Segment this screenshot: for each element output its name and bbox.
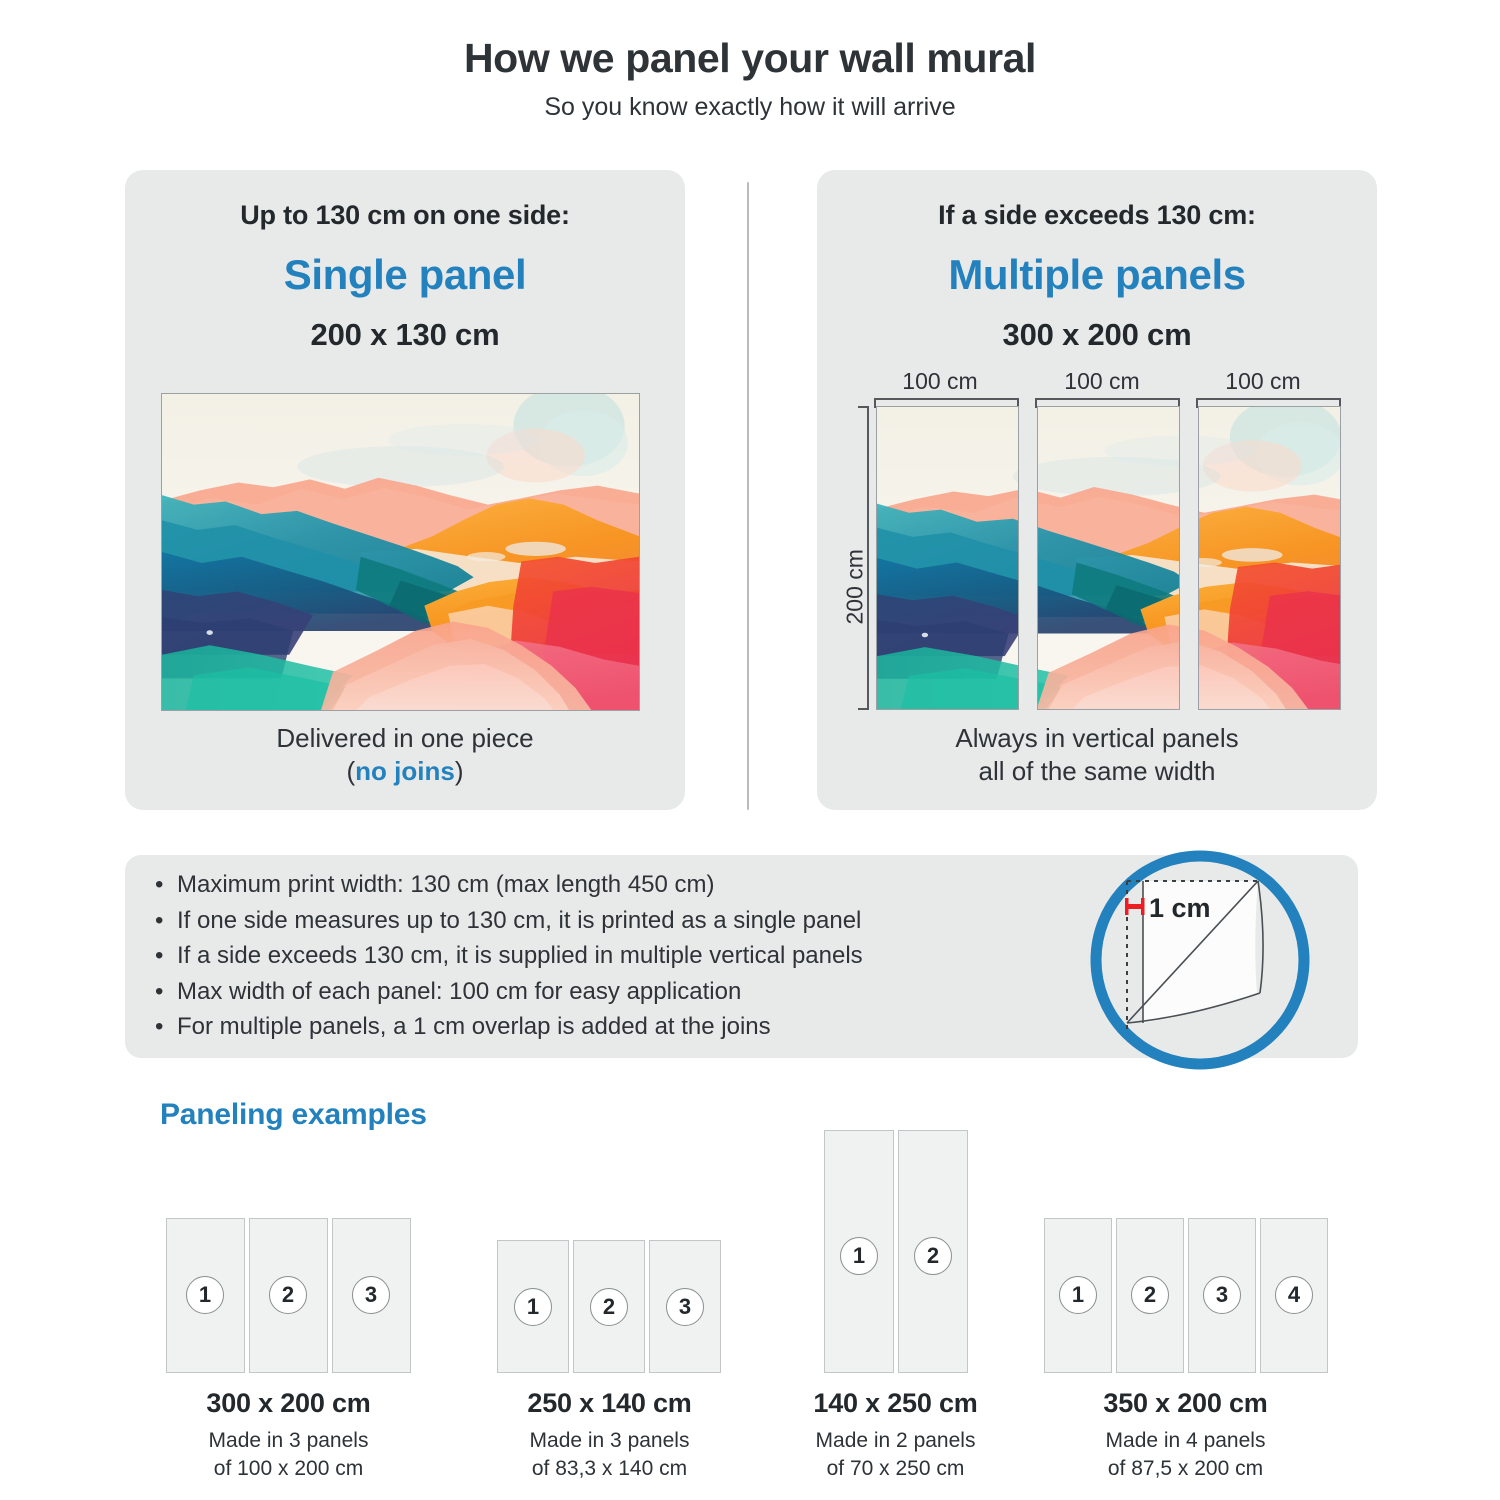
bullet-marker-icon: • — [155, 873, 177, 897]
mural-artwork-single — [161, 393, 640, 711]
paren-close: ) — [455, 756, 464, 786]
example-sub-line1: Made in 3 panels — [136, 1427, 441, 1455]
overlap-diagram: 1 cm — [1085, 845, 1315, 1075]
height-rule-tick-bottom — [858, 708, 869, 710]
example-dimensions: 250 x 140 cm — [457, 1388, 762, 1419]
example-sub-line2: of 83,3 x 140 cm — [457, 1455, 762, 1483]
panel-width-label-1: 100 cm — [875, 368, 1005, 395]
bullet-text: Max width of each panel: 100 cm for easy… — [177, 980, 741, 1004]
example-dimensions: 300 x 200 cm — [136, 1388, 441, 1419]
mural-panel-3 — [1198, 406, 1341, 710]
left-card-dimensions: 200 x 130 cm — [125, 317, 685, 353]
right-card-dimensions: 300 x 200 cm — [817, 317, 1377, 353]
page-title: How we panel your wall mural — [0, 36, 1500, 82]
right-card-kicker: If a side exceeds 130 cm: — [817, 200, 1377, 231]
left-card-footer-line1: Delivered in one piece — [276, 723, 533, 753]
page-header: How we panel your wall mural So you know… — [0, 36, 1500, 122]
list-item: • If a side exceeds 130 cm, it is suppli… — [155, 944, 1135, 968]
bullet-text: Maximum print width: 130 cm (max length … — [177, 873, 715, 897]
width-rule-2 — [1035, 398, 1180, 400]
list-item: • Max width of each panel: 100 cm for ea… — [155, 980, 1135, 1004]
left-card-heading: Single panel — [125, 253, 685, 297]
bullet-marker-icon: • — [155, 909, 177, 933]
width-rule-1 — [874, 398, 1019, 400]
height-rule-tick-top — [858, 406, 869, 408]
left-card-footer: Delivered in one piece (no joins) — [125, 722, 685, 789]
panel-number-badge: 1 — [840, 1237, 878, 1275]
bullet-text: If a side exceeds 130 cm, it is supplied… — [177, 944, 863, 968]
left-card-kicker: Up to 130 cm on one side: — [125, 200, 685, 231]
panel-number-badge: 2 — [914, 1237, 952, 1275]
panel-width-label-2: 100 cm — [1037, 368, 1167, 395]
example-dimensions: 350 x 200 cm — [1033, 1388, 1338, 1419]
page-subtitle: So you know exactly how it will arrive — [0, 92, 1500, 122]
no-joins-accent: no joins — [355, 756, 455, 786]
specifications-list: • Maximum print width: 130 cm (max lengt… — [155, 873, 1135, 1051]
panel-number-badge: 2 — [1131, 1276, 1169, 1314]
overlap-label: 1 cm — [1149, 893, 1211, 923]
panel-number-badge: 1 — [1059, 1276, 1097, 1314]
example-sub-line1: Made in 2 panels — [743, 1427, 1048, 1455]
overlap-marker-tick-right — [1141, 898, 1145, 915]
right-card-heading: Multiple panels — [817, 253, 1377, 297]
panel-number-badge: 1 — [186, 1276, 224, 1314]
paren-open: ( — [346, 756, 355, 786]
mural-panel-2 — [1037, 406, 1180, 710]
list-item: • If one side measures up to 130 cm, it … — [155, 909, 1135, 933]
section-divider — [747, 182, 749, 810]
bullet-marker-icon: • — [155, 944, 177, 968]
mural-panel-1 — [876, 406, 1019, 710]
example-sub-line2: of 100 x 200 cm — [136, 1455, 441, 1483]
bullet-text: If one side measures up to 130 cm, it is… — [177, 909, 861, 933]
panel-number-badge: 1 — [514, 1288, 552, 1326]
panel-width-label-3: 100 cm — [1198, 368, 1328, 395]
panel-number-badge: 3 — [1203, 1276, 1241, 1314]
right-card-footer-line2: all of the same width — [978, 756, 1215, 786]
overlap-marker-tick-left — [1125, 898, 1129, 915]
bullet-text: For multiple panels, a 1 cm overlap is a… — [177, 1015, 771, 1039]
list-item: • Maximum print width: 130 cm (max lengt… — [155, 873, 1135, 897]
example-sub-line1: Made in 4 panels — [1033, 1427, 1338, 1455]
example-sub-line1: Made in 3 panels — [457, 1427, 762, 1455]
panel-height-label: 200 cm — [842, 495, 869, 625]
infographic-page: How we panel your wall mural So you know… — [0, 0, 1500, 1500]
panel-number-badge: 2 — [590, 1288, 628, 1326]
panel-number-badge: 2 — [269, 1276, 307, 1314]
panel-number-badge: 3 — [666, 1288, 704, 1326]
panel-number-badge: 4 — [1275, 1276, 1313, 1314]
paneling-examples-title: Paneling examples — [160, 1098, 427, 1132]
example-dimensions: 140 x 250 cm — [743, 1388, 1048, 1419]
width-rule-3 — [1196, 398, 1341, 400]
right-card-footer-line1: Always in vertical panels — [955, 723, 1238, 753]
example-sub-line2: of 70 x 250 cm — [743, 1455, 1048, 1483]
example-sub-line2: of 87,5 x 200 cm — [1033, 1455, 1338, 1483]
bullet-marker-icon: • — [155, 980, 177, 1004]
panel-number-badge: 3 — [352, 1276, 390, 1314]
list-item: • For multiple panels, a 1 cm overlap is… — [155, 1015, 1135, 1039]
bullet-marker-icon: • — [155, 1015, 177, 1039]
right-card-footer: Always in vertical panels all of the sam… — [817, 722, 1377, 789]
